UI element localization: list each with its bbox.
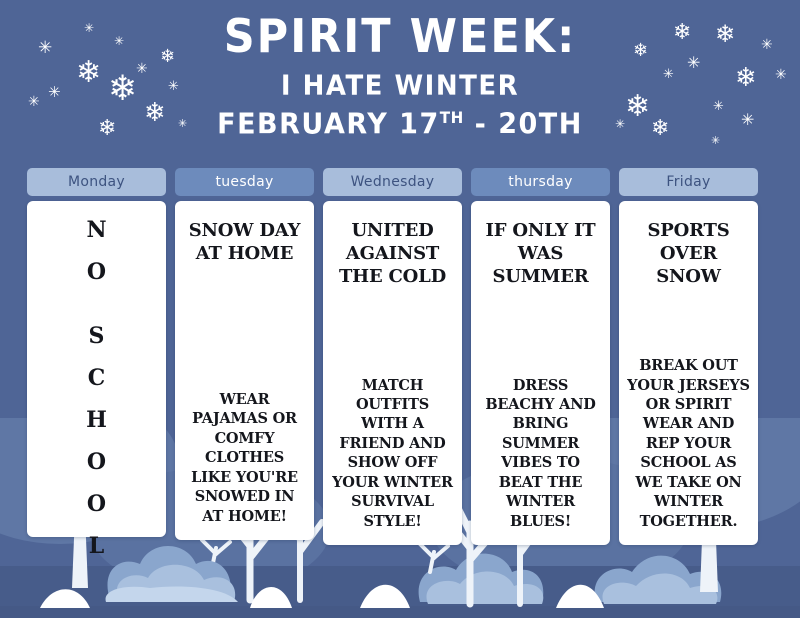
day-column-friday: FridaySPORTS OVER SNOWBREAK OUT YOUR JER…: [619, 168, 758, 545]
date-prefix: FEBRUARY 17: [217, 108, 440, 141]
day-header-tuesday[interactable]: tuesday: [175, 168, 314, 196]
day-header-wednesday[interactable]: Wednesday: [323, 168, 462, 196]
vertical-letter: H: [35, 409, 158, 431]
day-card-title: UNITED AGAINST THE COLD: [331, 219, 454, 288]
day-card-friday[interactable]: SPORTS OVER SNOWBREAK OUT YOUR JERSEYS O…: [619, 201, 758, 545]
no-school-vertical-text: NOSCHOOL: [35, 219, 158, 577]
day-card-body: BREAK OUT YOUR JERSEYS OR SPIRIT WEAR AN…: [627, 356, 750, 531]
spirit-week-poster: ✳✳✳❄✳❄❄✳✳❄❄✳✳ ❄❄❄✳✳❄✳❄✳❄✳✳✳✳ SPIRIT WEEK…: [0, 0, 800, 618]
vertical-letter: L: [35, 535, 158, 557]
vertical-letter-gap: [35, 303, 158, 325]
vertical-letter: O: [35, 451, 158, 473]
vertical-letter: N: [35, 219, 158, 241]
day-card-title: IF ONLY IT WAS SUMMER: [479, 219, 602, 288]
day-card-body: MATCH OUTFITS WITH A FRIEND AND SHOW OFF…: [331, 376, 454, 531]
day-card-thursday[interactable]: IF ONLY IT WAS SUMMERDRESS BEACHY AND BR…: [471, 201, 610, 545]
date-ordinal-suffix: TH: [440, 108, 464, 127]
day-column-wednesday: WednesdayUNITED AGAINST THE COLDMATCH OU…: [323, 168, 462, 545]
vertical-letter: S: [35, 325, 158, 347]
spirit-week-calendar: MondayNOSCHOOLtuesdaySNOW DAY AT HOMEWEA…: [27, 168, 773, 545]
poster-date-range: FEBRUARY 17TH - 20TH: [0, 108, 800, 141]
vertical-letter: C: [35, 367, 158, 389]
day-column-monday: MondayNOSCHOOL: [27, 168, 166, 545]
day-header-thursday[interactable]: thursday: [471, 168, 610, 196]
day-card-body: WEAR PAJAMAS OR COMFY CLOTHES LIKE YOU'R…: [183, 390, 306, 526]
day-card-wednesday[interactable]: UNITED AGAINST THE COLDMATCH OUTFITS WIT…: [323, 201, 462, 545]
page-title: SPIRIT WEEK:: [0, 14, 800, 60]
day-card-title: SPORTS OVER SNOW: [627, 219, 750, 288]
day-header-monday[interactable]: Monday: [27, 168, 166, 196]
day-column-tuesday: tuesdaySNOW DAY AT HOMEWEAR PAJAMAS OR C…: [175, 168, 314, 545]
day-column-thursday: thursdayIF ONLY IT WAS SUMMERDRESS BEACH…: [471, 168, 610, 545]
poster-subtitle: I HATE WINTER: [0, 70, 800, 102]
day-card-monday[interactable]: NOSCHOOL: [27, 201, 166, 537]
poster-title-block: SPIRIT WEEK: I HATE WINTER FEBRUARY 17TH…: [0, 16, 800, 140]
day-card-tuesday[interactable]: SNOW DAY AT HOMEWEAR PAJAMAS OR COMFY CL…: [175, 201, 314, 540]
day-card-body: DRESS BEACHY AND BRING SUMMER VIBES TO B…: [479, 376, 602, 531]
day-header-friday[interactable]: Friday: [619, 168, 758, 196]
day-card-title: SNOW DAY AT HOME: [183, 219, 306, 265]
vertical-letter: O: [35, 261, 158, 283]
date-suffix: - 20TH: [464, 108, 583, 141]
vertical-letter: O: [35, 493, 158, 515]
